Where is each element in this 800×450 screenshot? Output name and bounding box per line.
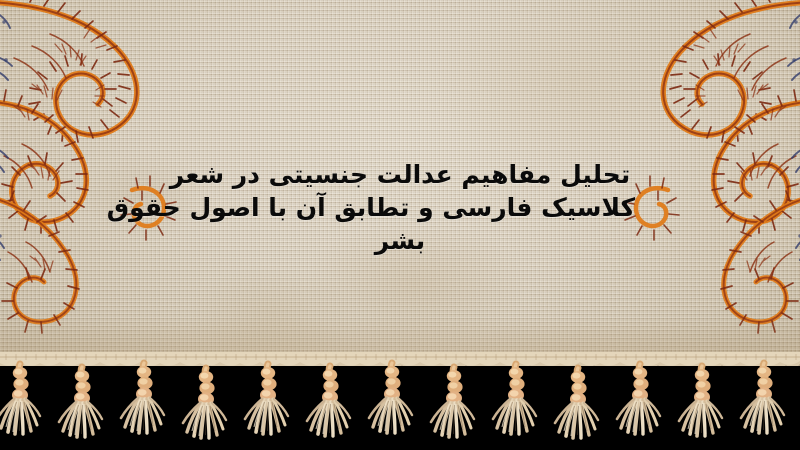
- title-line-3: بشر: [165, 224, 635, 257]
- page-title: تحلیل مفاهیم عدالت جنسیتی در شعر کلاسیک …: [165, 158, 635, 257]
- fabric-bottom-shadow: [0, 316, 800, 374]
- title-line-2: کلاسیک فارسی و تطابق آن با اصول حقوق: [165, 191, 635, 224]
- title-line-1: تحلیل مفاهیم عدالت جنسیتی در شعر: [165, 158, 635, 191]
- title-slide: تحلیل مفاهیم عدالت جنسیتی در شعر کلاسیک …: [0, 0, 800, 450]
